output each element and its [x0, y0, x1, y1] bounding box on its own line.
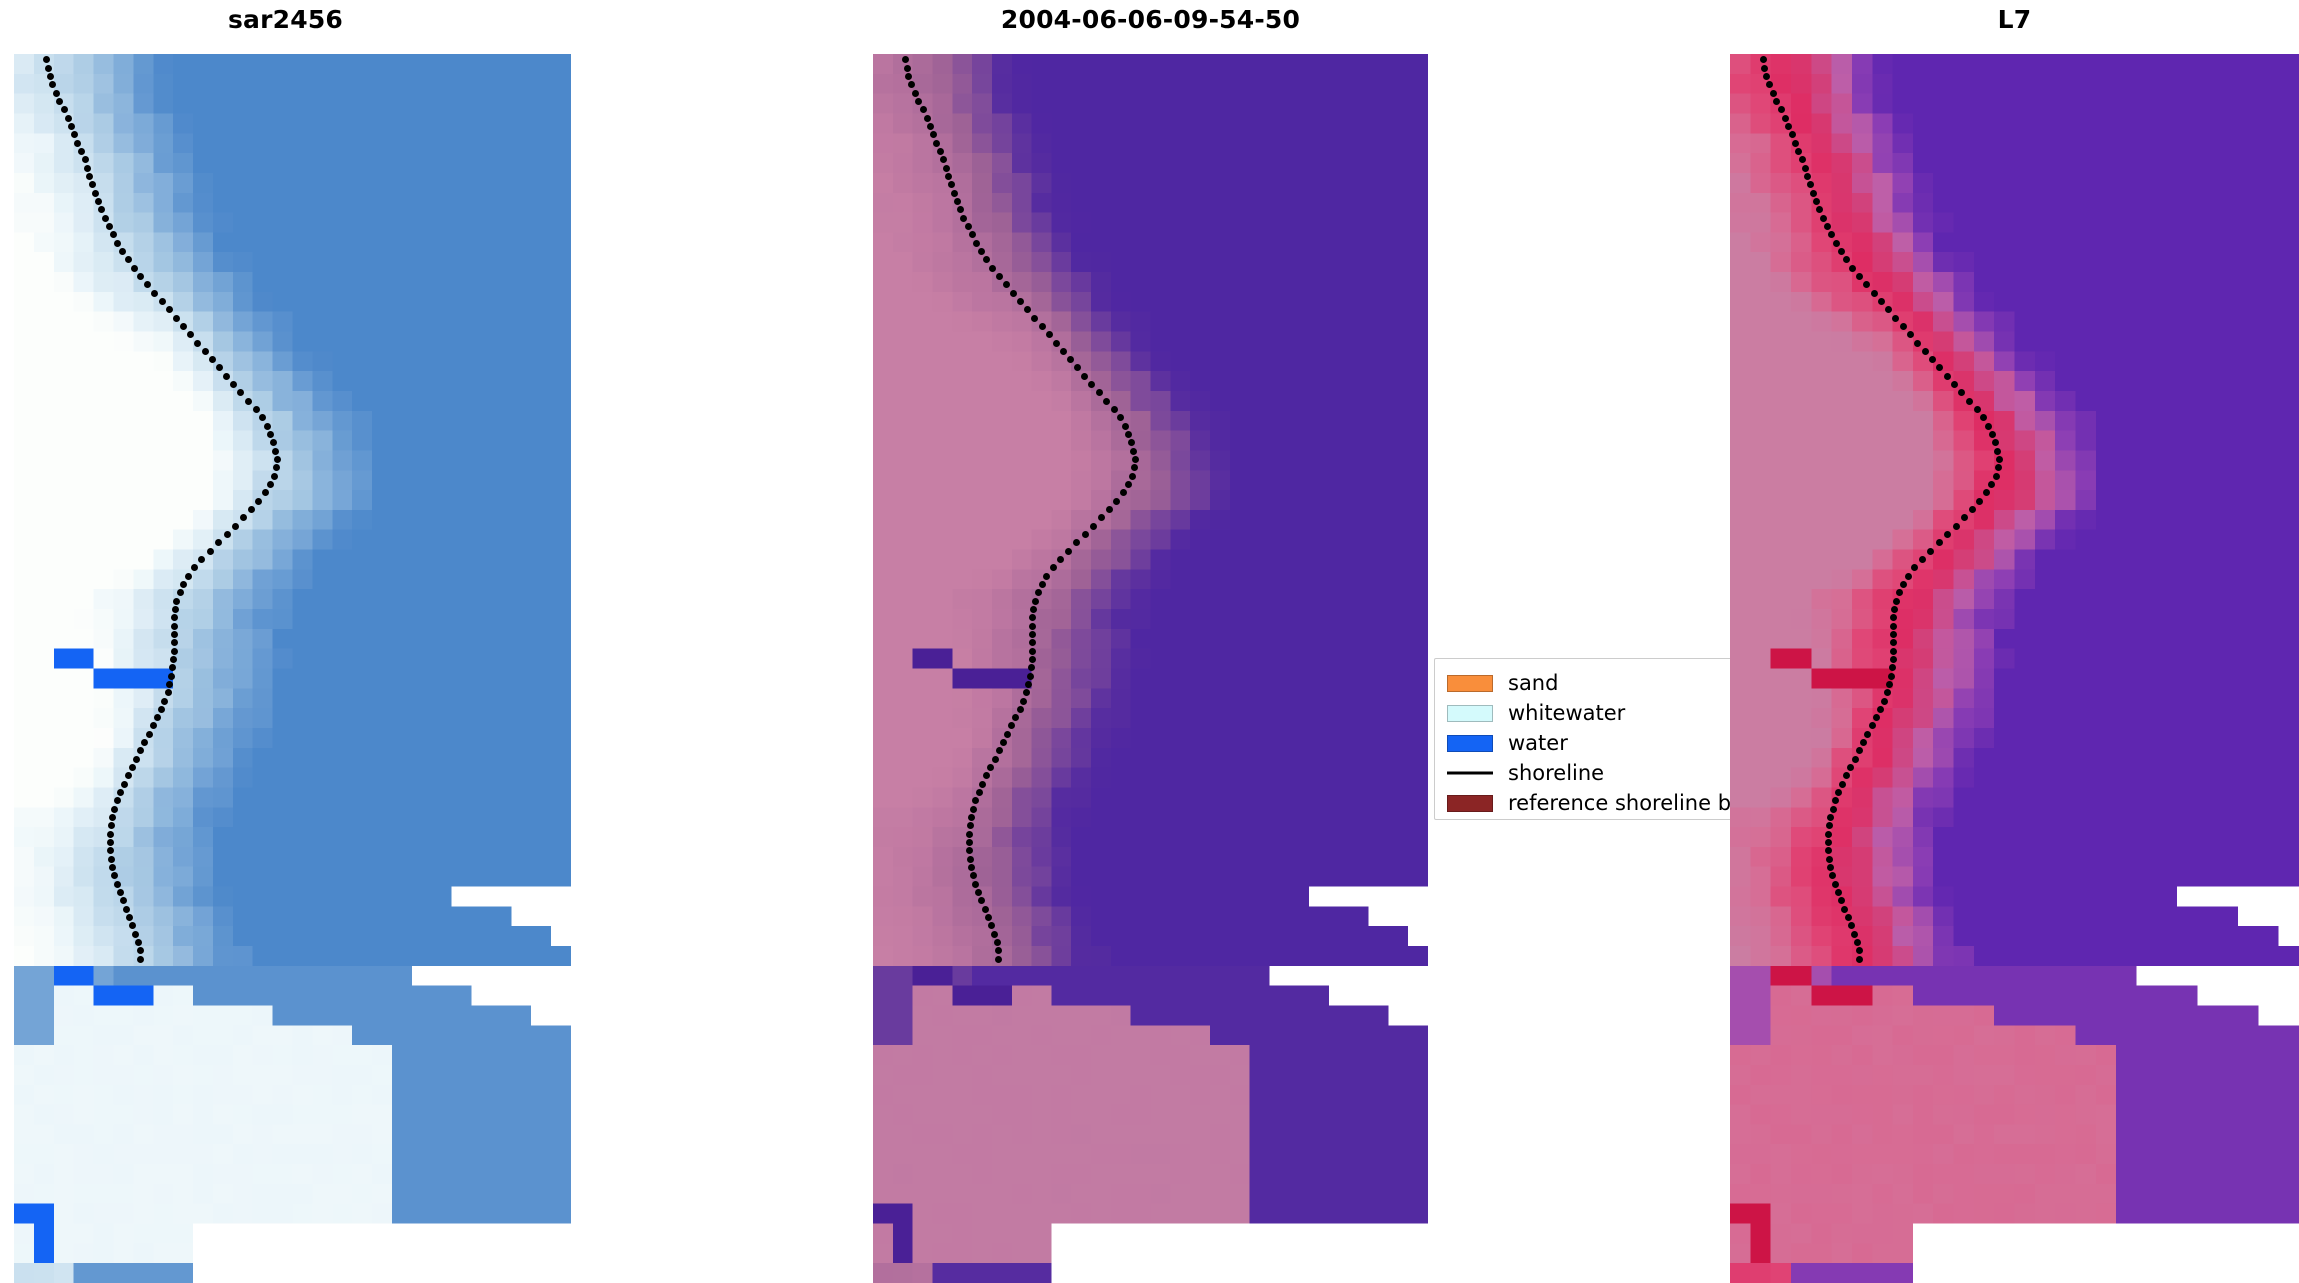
legend-item-water[interactable]: water — [1447, 728, 1730, 758]
water-swatch — [1447, 735, 1493, 752]
legend-label-reference-shoreline-buffer: reference shoreline bu — [1508, 793, 1730, 814]
panel-scene-2004: 2004-06-06-09-54-50 — [873, 0, 1428, 1283]
classification-legend: sand whitewater water shoreline referenc… — [1434, 658, 1730, 820]
legend-label-shoreline: shoreline — [1508, 763, 1604, 784]
panel-title-sar2456: sar2456 — [0, 0, 571, 40]
axes-scene-2004[interactable] — [873, 54, 1428, 1283]
axes-sar2456[interactable] — [14, 54, 571, 1283]
whitewater-swatch — [1447, 705, 1493, 722]
sand-swatch — [1447, 675, 1493, 692]
legend-item-shoreline[interactable]: shoreline — [1447, 758, 1730, 788]
reference-shoreline-buffer-swatch — [1447, 795, 1493, 812]
legend-label-sand: sand — [1508, 673, 1558, 694]
panel-title-l7: L7 — [1730, 0, 2299, 40]
legend-item-reference-shoreline-buffer[interactable]: reference shoreline bu — [1447, 788, 1730, 818]
shoreline-line-icon — [1447, 765, 1493, 782]
panel-title-scene-2004: 2004-06-06-09-54-50 — [873, 0, 1428, 40]
legend-item-sand[interactable]: sand — [1447, 668, 1730, 698]
panel-sar2456: sar2456 — [0, 0, 571, 1283]
legend-clip-region: sand whitewater water shoreline referenc… — [1434, 658, 1730, 820]
figure-canvas: sar2456 2004-06-06-09-54-50 L7 sand whit… — [0, 0, 2299, 1283]
axes-l7[interactable] — [1730, 54, 2299, 1283]
panel-l7: L7 — [1730, 0, 2299, 1283]
legend-label-water: water — [1508, 733, 1568, 754]
legend-label-whitewater: whitewater — [1508, 703, 1625, 724]
legend-item-whitewater[interactable]: whitewater — [1447, 698, 1730, 728]
